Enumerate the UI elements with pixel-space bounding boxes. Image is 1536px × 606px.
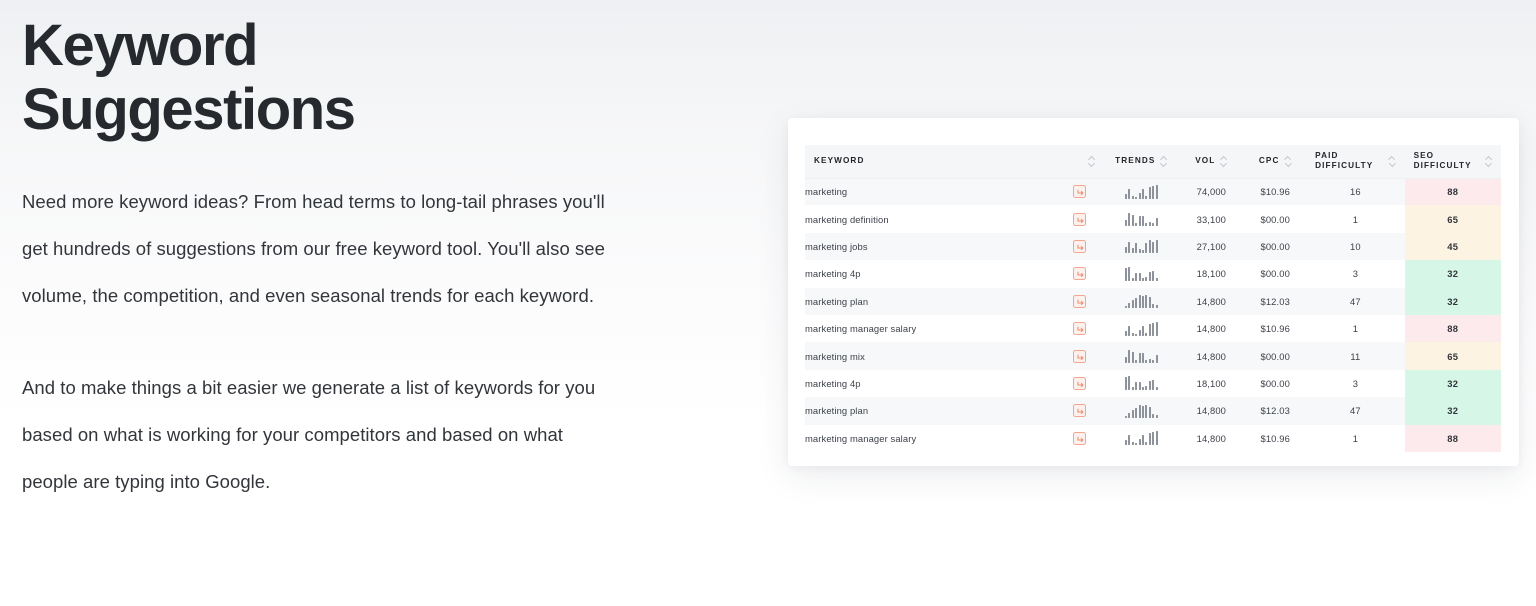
- sparkline-bar: [1145, 223, 1147, 226]
- cell-vol: 14,800: [1178, 397, 1244, 424]
- sparkline-bar: [1128, 350, 1130, 363]
- table-header-row: KEYWORD TRENDS VOL: [805, 145, 1501, 178]
- sparkline-bar: [1156, 387, 1158, 390]
- cell-open-keyword[interactable]: [1055, 342, 1105, 369]
- cell-trends: [1104, 425, 1178, 452]
- trend-sparkline: [1125, 431, 1158, 445]
- cell-keyword: marketing definition: [805, 205, 1055, 232]
- cell-seo-difficulty: 65: [1405, 342, 1501, 369]
- open-in-new-icon[interactable]: [1073, 377, 1086, 390]
- sparkline-bar: [1152, 360, 1154, 363]
- column-header-seo-difficulty[interactable]: SEO DIFFICULTY: [1405, 145, 1501, 178]
- sparkline-bar: [1128, 413, 1130, 418]
- sparkline-bar: [1128, 242, 1130, 253]
- sparkline-bar: [1135, 360, 1137, 363]
- cell-keyword: marketing jobs: [805, 233, 1055, 260]
- cell-paid-difficulty: 16: [1306, 178, 1404, 205]
- sparkline-bar: [1145, 277, 1147, 281]
- sparkline-bar: [1149, 433, 1151, 445]
- sparkline-bar: [1139, 193, 1141, 199]
- table-row[interactable]: marketing 4p18,100$00.00332: [805, 260, 1501, 287]
- cell-vol: 14,800: [1178, 425, 1244, 452]
- sparkline-bar: [1149, 407, 1151, 418]
- cell-paid-difficulty: 3: [1306, 370, 1404, 397]
- cell-seo-difficulty: 65: [1405, 205, 1501, 232]
- cell-open-keyword[interactable]: [1055, 370, 1105, 397]
- cell-keyword: marketing manager salary: [805, 315, 1055, 342]
- sparkline-bar: [1149, 222, 1151, 226]
- cell-keyword: marketing manager salary: [805, 425, 1055, 452]
- cell-cpc: $10.96: [1244, 315, 1306, 342]
- table-row[interactable]: marketing definition33,100$00.00165: [805, 205, 1501, 232]
- cell-vol: 14,800: [1178, 342, 1244, 369]
- sparkline-bar: [1156, 278, 1158, 281]
- trend-sparkline: [1125, 267, 1158, 281]
- sparkline-bar: [1152, 304, 1154, 308]
- sparkline-bar: [1128, 326, 1130, 336]
- sparkline-bar: [1156, 355, 1158, 363]
- sparkline-bar: [1142, 406, 1144, 418]
- sparkline-bar: [1125, 194, 1127, 199]
- open-in-new-icon[interactable]: [1073, 404, 1086, 417]
- cell-seo-difficulty: 32: [1405, 288, 1501, 315]
- sparkline-bar: [1142, 278, 1144, 281]
- sparkline-bar: [1125, 306, 1127, 308]
- cell-cpc: $10.96: [1244, 178, 1306, 205]
- open-in-new-icon[interactable]: [1073, 322, 1086, 335]
- sparkline-bar: [1128, 376, 1130, 390]
- sparkline-bar: [1132, 278, 1134, 281]
- sparkline-bar: [1149, 297, 1151, 308]
- trend-sparkline: [1125, 185, 1158, 199]
- intro-paragraph-2: And to make things a bit easier we gener…: [22, 364, 622, 505]
- sparkline-bar: [1135, 298, 1137, 308]
- sort-icon[interactable]: [1220, 156, 1227, 167]
- sparkline-bar: [1128, 189, 1130, 199]
- sparkline-bar: [1135, 243, 1137, 253]
- sparkline-bar: [1152, 380, 1154, 390]
- cell-cpc: $00.00: [1244, 205, 1306, 232]
- sparkline-bar: [1149, 359, 1151, 363]
- cell-trends: [1104, 205, 1178, 232]
- open-in-new-icon[interactable]: [1073, 350, 1086, 363]
- sparkline-bar: [1139, 405, 1141, 418]
- cell-vol: 27,100: [1178, 233, 1244, 260]
- sparkline-bar: [1125, 440, 1127, 445]
- sparkline-bar: [1132, 352, 1134, 363]
- sparkline-bar: [1152, 271, 1154, 281]
- table-row[interactable]: marketing mix14,800$00.001165: [805, 342, 1501, 369]
- trend-sparkline: [1125, 376, 1158, 390]
- column-header-seo-difficulty-label: SEO DIFFICULTY: [1414, 151, 1480, 172]
- trend-sparkline: [1125, 212, 1158, 226]
- column-header-paid-difficulty-label: PAID DIFFICULTY: [1315, 151, 1383, 172]
- cell-seo-difficulty: 88: [1405, 178, 1501, 205]
- cell-open-keyword[interactable]: [1055, 315, 1105, 342]
- cell-trends: [1104, 260, 1178, 287]
- open-in-new-icon[interactable]: [1073, 295, 1086, 308]
- content-column: Keyword Suggestions Need more keyword id…: [22, 14, 662, 505]
- sparkline-bar: [1142, 387, 1144, 390]
- column-header-vol[interactable]: VOL: [1178, 145, 1244, 178]
- sparkline-bar: [1156, 240, 1158, 253]
- trend-sparkline: [1125, 294, 1158, 308]
- table-row[interactable]: marketing plan14,800$12.034732: [805, 397, 1501, 424]
- sparkline-bar: [1132, 215, 1134, 226]
- cell-open-keyword[interactable]: [1055, 178, 1105, 205]
- cell-seo-difficulty: 32: [1405, 397, 1501, 424]
- sparkline-bar: [1132, 410, 1134, 418]
- column-header-trends[interactable]: TRENDS: [1104, 145, 1178, 178]
- column-header-trends-label: TRENDS: [1115, 156, 1155, 166]
- table-row[interactable]: marketing manager salary14,800$10.96188: [805, 315, 1501, 342]
- column-header-cpc-label: CPC: [1259, 156, 1280, 166]
- keyword-suggestions-table: KEYWORD TRENDS VOL: [805, 145, 1501, 452]
- cell-paid-difficulty: 11: [1306, 342, 1404, 369]
- sparkline-bar: [1149, 381, 1151, 390]
- cell-trends: [1104, 288, 1178, 315]
- sparkline-bar: [1139, 439, 1141, 445]
- sparkline-bar: [1145, 243, 1147, 253]
- cell-trends: [1104, 342, 1178, 369]
- sparkline-bar: [1152, 186, 1154, 199]
- sparkline-bar: [1152, 414, 1154, 418]
- sparkline-bar: [1145, 405, 1147, 418]
- sparkline-bar: [1139, 295, 1141, 308]
- sparkline-bar: [1125, 268, 1127, 281]
- sparkline-bar: [1139, 216, 1141, 226]
- sparkline-bar: [1142, 435, 1144, 445]
- sparkline-bar: [1156, 218, 1158, 226]
- column-header-paid-difficulty[interactable]: PAID DIFFICULTY: [1306, 145, 1404, 178]
- open-in-new-icon[interactable]: [1073, 240, 1086, 253]
- sparkline-bar: [1152, 323, 1154, 336]
- sparkline-bar: [1142, 250, 1144, 253]
- table-header: KEYWORD TRENDS VOL: [805, 145, 1501, 178]
- sparkline-bar: [1152, 223, 1154, 226]
- cell-vol: 74,000: [1178, 178, 1244, 205]
- sparkline-bar: [1149, 187, 1151, 199]
- sparkline-bar: [1156, 431, 1158, 445]
- open-in-new-icon[interactable]: [1073, 185, 1086, 198]
- sparkline-bar: [1132, 248, 1134, 253]
- cell-trends: [1104, 370, 1178, 397]
- cell-trends: [1104, 178, 1178, 205]
- sparkline-bar: [1139, 330, 1141, 336]
- sparkline-bar: [1152, 432, 1154, 445]
- cell-cpc: $00.00: [1244, 342, 1306, 369]
- sparkline-bar: [1145, 196, 1147, 199]
- cell-seo-difficulty: 88: [1405, 315, 1501, 342]
- cell-cpc: $00.00: [1244, 260, 1306, 287]
- sparkline-bar: [1135, 443, 1137, 445]
- sparkline-bar: [1152, 242, 1154, 253]
- cell-trends: [1104, 397, 1178, 424]
- sparkline-bar: [1125, 247, 1127, 253]
- sparkline-bar: [1142, 296, 1144, 308]
- sparkline-bar: [1156, 305, 1158, 308]
- cell-keyword: marketing plan: [805, 397, 1055, 424]
- sparkline-bar: [1128, 435, 1130, 445]
- cell-seo-difficulty: 32: [1405, 370, 1501, 397]
- cell-paid-difficulty: 47: [1306, 397, 1404, 424]
- sparkline-bar: [1135, 334, 1137, 336]
- sparkline-bar: [1128, 213, 1130, 226]
- cell-paid-difficulty: 1: [1306, 205, 1404, 232]
- sparkline-bar: [1145, 386, 1147, 390]
- sparkline-bar: [1132, 333, 1134, 336]
- trend-sparkline: [1125, 322, 1158, 336]
- table-row[interactable]: marketing 4p18,100$00.00332: [805, 370, 1501, 397]
- cell-paid-difficulty: 1: [1306, 315, 1404, 342]
- sparkline-bar: [1149, 240, 1151, 253]
- cell-paid-difficulty: 1: [1306, 425, 1404, 452]
- cell-vol: 14,800: [1178, 315, 1244, 342]
- sparkline-bar: [1139, 273, 1141, 281]
- table-body: marketing74,000$10.961688marketing defin…: [805, 178, 1501, 452]
- sparkline-bar: [1156, 322, 1158, 336]
- table-row[interactable]: marketing74,000$10.961688: [805, 178, 1501, 205]
- sparkline-bar: [1135, 382, 1137, 390]
- cell-paid-difficulty: 47: [1306, 288, 1404, 315]
- column-header-cpc[interactable]: CPC: [1244, 145, 1306, 178]
- cell-keyword: marketing mix: [805, 342, 1055, 369]
- cell-cpc: $12.03: [1244, 397, 1306, 424]
- sparkline-bar: [1125, 377, 1127, 390]
- sparkline-bar: [1128, 267, 1130, 281]
- sparkline-bar: [1125, 220, 1127, 226]
- sparkline-bar: [1135, 197, 1137, 199]
- sparkline-bar: [1142, 216, 1144, 226]
- cell-trends: [1104, 315, 1178, 342]
- sparkline-bar: [1145, 333, 1147, 336]
- column-header-vol-label: VOL: [1195, 156, 1215, 166]
- sort-icon[interactable]: [1485, 156, 1492, 167]
- trend-sparkline: [1125, 239, 1158, 253]
- cell-vol: 18,100: [1178, 260, 1244, 287]
- cell-open-keyword[interactable]: [1055, 260, 1105, 287]
- sparkline-bar: [1149, 324, 1151, 336]
- sparkline-bar: [1145, 442, 1147, 445]
- cell-seo-difficulty: 32: [1405, 260, 1501, 287]
- page-title: Keyword Suggestions: [22, 14, 662, 142]
- table-row[interactable]: marketing jobs27,100$00.001045: [805, 233, 1501, 260]
- sparkline-bar: [1125, 416, 1127, 418]
- sort-icon[interactable]: [1160, 156, 1167, 167]
- table-row[interactable]: marketing manager salary14,800$10.96188: [805, 425, 1501, 452]
- trend-sparkline: [1125, 349, 1158, 363]
- cell-cpc: $12.03: [1244, 288, 1306, 315]
- keyword-table-card: KEYWORD TRENDS VOL: [788, 118, 1519, 466]
- sparkline-bar: [1128, 303, 1130, 308]
- sparkline-bar: [1149, 272, 1151, 281]
- sparkline-bar: [1139, 249, 1141, 253]
- intro-paragraph-1: Need more keyword ideas? From head terms…: [22, 178, 622, 319]
- sparkline-bar: [1125, 357, 1127, 363]
- cell-seo-difficulty: 45: [1405, 233, 1501, 260]
- sort-icon[interactable]: [1088, 156, 1095, 167]
- cell-vol: 14,800: [1178, 288, 1244, 315]
- cell-open-keyword[interactable]: [1055, 288, 1105, 315]
- sparkline-bar: [1145, 295, 1147, 308]
- cell-keyword: marketing: [805, 178, 1055, 205]
- cell-open-keyword[interactable]: [1055, 233, 1105, 260]
- sparkline-bar: [1145, 360, 1147, 363]
- cell-keyword: marketing 4p: [805, 370, 1055, 397]
- cell-open-keyword[interactable]: [1055, 425, 1105, 452]
- sparkline-bar: [1139, 382, 1141, 390]
- sort-icon[interactable]: [1389, 156, 1396, 167]
- sparkline-bar: [1142, 326, 1144, 336]
- open-in-new-icon[interactable]: [1073, 432, 1086, 445]
- cell-cpc: $00.00: [1244, 233, 1306, 260]
- sparkline-bar: [1132, 196, 1134, 199]
- cell-keyword: marketing plan: [805, 288, 1055, 315]
- cell-vol: 33,100: [1178, 205, 1244, 232]
- sort-icon[interactable]: [1285, 156, 1292, 167]
- cell-cpc: $10.96: [1244, 425, 1306, 452]
- sparkline-bar: [1132, 387, 1134, 390]
- table-row[interactable]: marketing plan14,800$12.034732: [805, 288, 1501, 315]
- cell-paid-difficulty: 10: [1306, 233, 1404, 260]
- sparkline-bar: [1132, 300, 1134, 308]
- open-in-new-icon[interactable]: [1073, 213, 1086, 226]
- sparkline-bar: [1132, 442, 1134, 445]
- column-header-keyword[interactable]: KEYWORD: [805, 145, 1104, 178]
- sparkline-bar: [1142, 353, 1144, 363]
- sparkline-bar: [1142, 189, 1144, 199]
- trend-sparkline: [1125, 404, 1158, 418]
- cell-trends: [1104, 233, 1178, 260]
- sparkline-bar: [1135, 223, 1137, 226]
- sparkline-bar: [1125, 331, 1127, 336]
- open-in-new-icon[interactable]: [1073, 267, 1086, 280]
- sparkline-bar: [1156, 415, 1158, 418]
- sparkline-bar: [1135, 408, 1137, 418]
- column-header-keyword-label: KEYWORD: [814, 156, 864, 166]
- sparkline-bar: [1139, 353, 1141, 363]
- cell-vol: 18,100: [1178, 370, 1244, 397]
- cell-open-keyword[interactable]: [1055, 397, 1105, 424]
- sparkline-bar: [1156, 185, 1158, 199]
- cell-paid-difficulty: 3: [1306, 260, 1404, 287]
- sparkline-bar: [1135, 273, 1137, 281]
- cell-seo-difficulty: 88: [1405, 425, 1501, 452]
- cell-cpc: $00.00: [1244, 370, 1306, 397]
- cell-keyword: marketing 4p: [805, 260, 1055, 287]
- cell-open-keyword[interactable]: [1055, 205, 1105, 232]
